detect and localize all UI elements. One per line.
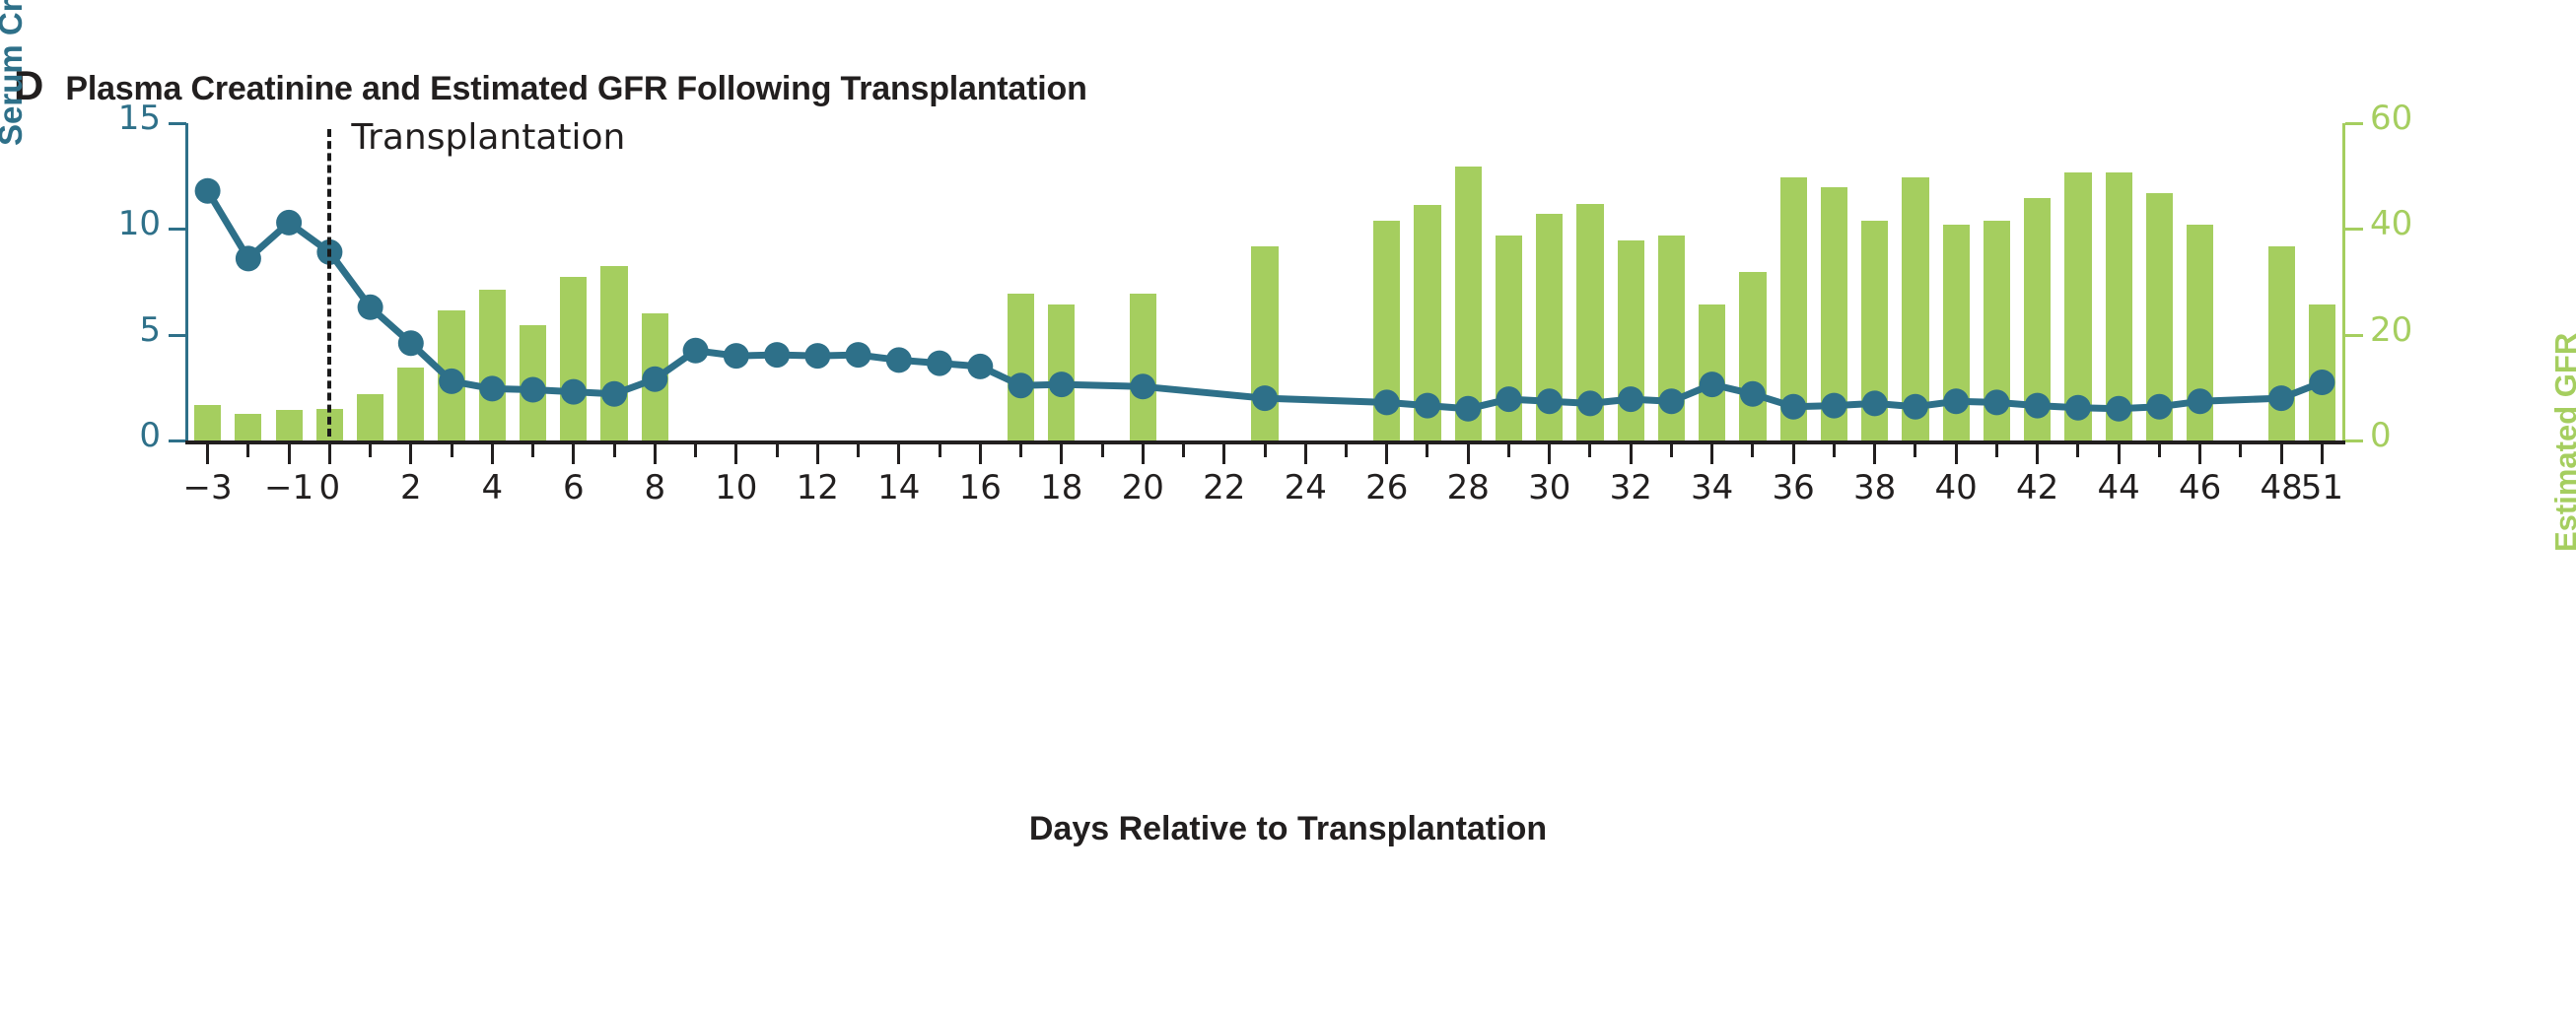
transplantation-marker-line (327, 129, 331, 437)
x-axis-tick-major (1142, 444, 1145, 464)
x-axis-tick-major (1792, 444, 1795, 464)
x-axis-tick-label: 18 (1040, 471, 1082, 505)
creatinine-point (1659, 388, 1685, 414)
right-axis-tick-label: 40 (2370, 207, 2412, 240)
right-axis-tick (2345, 228, 2363, 231)
x-axis-tick-minor (451, 444, 453, 457)
x-axis-tick-major (734, 444, 737, 464)
creatinine-point (1009, 372, 1034, 398)
creatinine-point (1740, 381, 1766, 407)
x-axis-tick-label: 40 (1935, 471, 1978, 505)
x-axis-tick-major (654, 444, 657, 464)
creatinine-point (1821, 393, 1846, 419)
x-axis-tick-label: 14 (877, 471, 920, 505)
x-axis-tick-minor (857, 444, 860, 457)
creatinine-point (236, 245, 261, 271)
right-axis-tick (2345, 439, 2363, 442)
creatinine-point (479, 375, 505, 401)
right-axis-tick-label: 60 (2370, 101, 2412, 135)
x-axis-tick-minor (694, 444, 697, 457)
x-axis-tick-label: 22 (1203, 471, 1245, 505)
x-axis-tick-minor (369, 444, 372, 457)
creatinine-point (358, 295, 383, 320)
x-axis-tick-major (816, 444, 819, 464)
x-axis-tick-major (1060, 444, 1063, 464)
creatinine-point (1497, 386, 1522, 412)
x-axis-tick-label: 48 (2260, 471, 2302, 505)
creatinine-line-series (187, 123, 2342, 440)
x-axis-tick-major (1630, 444, 1633, 464)
x-axis-tick-major (491, 444, 494, 464)
creatinine-point (886, 347, 912, 372)
x-axis-tick-minor (2158, 444, 2161, 457)
x-axis-tick-label: 0 (319, 471, 341, 505)
creatinine-point (1577, 390, 1603, 416)
left-axis-tick (169, 439, 186, 442)
creatinine-point (724, 343, 749, 369)
x-axis-tick-minor (1019, 444, 1022, 457)
creatinine-point (439, 369, 464, 394)
creatinine-point (276, 210, 302, 236)
x-axis-tick-minor (1833, 444, 1836, 457)
x-axis-tick-minor (939, 444, 941, 457)
creatinine-point (2188, 388, 2213, 414)
creatinine-point (2106, 396, 2131, 422)
x-axis-tick-label: 4 (482, 471, 504, 505)
left-axis-tick (169, 334, 186, 337)
x-axis-tick-label: 30 (1528, 471, 1570, 505)
creatinine-point (521, 377, 546, 403)
creatinine-point (1252, 385, 1278, 411)
x-axis-tick-minor (1345, 444, 1348, 457)
creatinine-point (1537, 388, 1563, 414)
creatinine-point (1780, 394, 1806, 420)
x-axis-tick-minor (1101, 444, 1104, 457)
x-axis-tick-label: 8 (644, 471, 665, 505)
x-axis-tick-major (1710, 444, 1713, 464)
creatinine-point (764, 342, 790, 368)
x-axis-tick-label: 44 (2098, 471, 2140, 505)
creatinine-point (1862, 390, 1888, 416)
figure-panel-d: D Plasma Creatinine and Estimated GFR Fo… (0, 0, 2576, 1013)
x-axis-tick-label: −3 (183, 471, 233, 505)
creatinine-point (642, 367, 667, 392)
x-axis-tick-major (1222, 444, 1225, 464)
left-axis-tick-label: 5 (92, 313, 161, 347)
creatinine-point (1943, 388, 1969, 414)
x-axis-tick-label: 10 (715, 471, 757, 505)
x-axis-tick-major (1304, 444, 1307, 464)
right-axis-tick (2345, 122, 2363, 125)
page-title: Plasma Creatinine and Estimated GFR Foll… (65, 72, 1086, 105)
x-axis-tick-label: 46 (2179, 471, 2221, 505)
x-axis-tick-label: 34 (1691, 471, 1733, 505)
x-axis-tick-minor (1751, 444, 1754, 457)
x-axis-tick-major (328, 444, 331, 464)
left-axis-title: Serum Creatinine (mg/dl) (0, 0, 30, 146)
x-axis-tick-minor (531, 444, 534, 457)
x-axis-tick-major (1467, 444, 1470, 464)
x-axis-tick-minor (776, 444, 779, 457)
x-axis-tick-label: −1 (264, 471, 313, 505)
right-axis-title-line1: Estimated GFR (2549, 319, 2576, 552)
creatinine-point (683, 338, 709, 364)
x-axis-tick-label: 12 (797, 471, 839, 505)
x-axis-tick-major (2118, 444, 2121, 464)
creatinine-point (561, 379, 587, 405)
x-axis-tick-label: 6 (563, 471, 585, 505)
x-axis-tick-minor (246, 444, 249, 457)
x-axis-tick-label: 20 (1122, 471, 1164, 505)
x-axis-tick-major (2280, 444, 2283, 464)
right-axis-line (2342, 123, 2345, 440)
creatinine-point (967, 354, 993, 379)
creatinine-point (2146, 394, 2172, 420)
x-axis-tick-label: 38 (1853, 471, 1896, 505)
creatinine-point (1618, 386, 1643, 412)
x-axis-tick-label: 24 (1285, 471, 1327, 505)
right-axis-tick-label: 0 (2370, 419, 2392, 452)
creatinine-point (1984, 389, 2009, 415)
creatinine-point (398, 330, 424, 356)
x-axis-tick-major (1873, 444, 1876, 464)
creatinine-point (1700, 371, 1725, 397)
creatinine-point (2065, 395, 2091, 421)
x-axis-tick-minor (2076, 444, 2079, 457)
x-axis-tick-major (979, 444, 982, 464)
x-axis-tick-major (897, 444, 900, 464)
creatinine-point (2268, 385, 2294, 411)
x-axis-tick-minor (1588, 444, 1591, 457)
creatinine-point (927, 351, 952, 376)
x-axis-tick-minor (1507, 444, 1510, 457)
x-axis-tick-label: 2 (400, 471, 422, 505)
x-axis-tick-major (1955, 444, 1958, 464)
left-axis-tick (169, 228, 186, 231)
x-axis-tick-minor (1426, 444, 1428, 457)
creatinine-point (195, 178, 221, 204)
x-axis-tick-minor (1670, 444, 1673, 457)
x-axis-tick-major (1548, 444, 1551, 464)
creatinine-point (1415, 393, 1440, 419)
x-axis-tick-major (288, 444, 291, 464)
x-axis-tick-major (409, 444, 412, 464)
x-axis-tick-major (2036, 444, 2039, 464)
x-axis-tick-label: 16 (959, 471, 1002, 505)
right-axis-title: Estimated GFR (ml/min/1.73 m²) (2549, 319, 2576, 552)
creatinine-point (2309, 370, 2334, 395)
x-axis-tick-minor (613, 444, 616, 457)
left-axis-tick-label: 15 (92, 101, 161, 135)
x-axis-tick-minor (1182, 444, 1185, 457)
creatinine-point (1455, 396, 1481, 422)
x-axis-tick-major (206, 444, 209, 464)
x-axis-title: Days Relative to Transplantation (0, 810, 2576, 848)
x-axis-tick-major (572, 444, 575, 464)
x-axis-tick-major (2321, 444, 2324, 464)
creatinine-point (1049, 371, 1075, 397)
x-axis-tick-minor (1995, 444, 1998, 457)
x-axis-tick-minor (1264, 444, 1267, 457)
x-axis-tick-major (1385, 444, 1388, 464)
creatinine-point (846, 342, 871, 368)
plot-area (187, 123, 2342, 440)
creatinine-point (2025, 393, 2051, 419)
x-axis-tick-label: 42 (2016, 471, 2058, 505)
left-axis-tick-label: 0 (92, 419, 161, 452)
creatinine-point (1130, 373, 1155, 399)
creatinine-point (601, 381, 627, 407)
x-axis-tick-label: 36 (1773, 471, 1815, 505)
creatinine-point (804, 343, 830, 369)
x-axis-tick-label: 32 (1610, 471, 1652, 505)
right-axis-tick-label: 20 (2370, 313, 2412, 347)
panel-header: D Plasma Creatinine and Estimated GFR Fo… (14, 65, 1087, 106)
x-axis-tick-label: 28 (1447, 471, 1490, 505)
creatinine-line (208, 191, 2323, 409)
x-axis-tick-label: 26 (1365, 471, 1408, 505)
transplantation-label: Transplantation (351, 120, 625, 156)
left-axis-tick-label: 10 (92, 207, 161, 240)
x-axis-tick-major (2198, 444, 2201, 464)
x-axis-tick-minor (1914, 444, 1916, 457)
left-axis-tick (169, 122, 186, 125)
x-axis-tick-minor (2239, 444, 2242, 457)
creatinine-point (1903, 394, 1928, 420)
right-axis-tick (2345, 334, 2363, 337)
creatinine-point (1374, 389, 1400, 415)
x-axis-tick-label: 51 (2301, 471, 2343, 505)
